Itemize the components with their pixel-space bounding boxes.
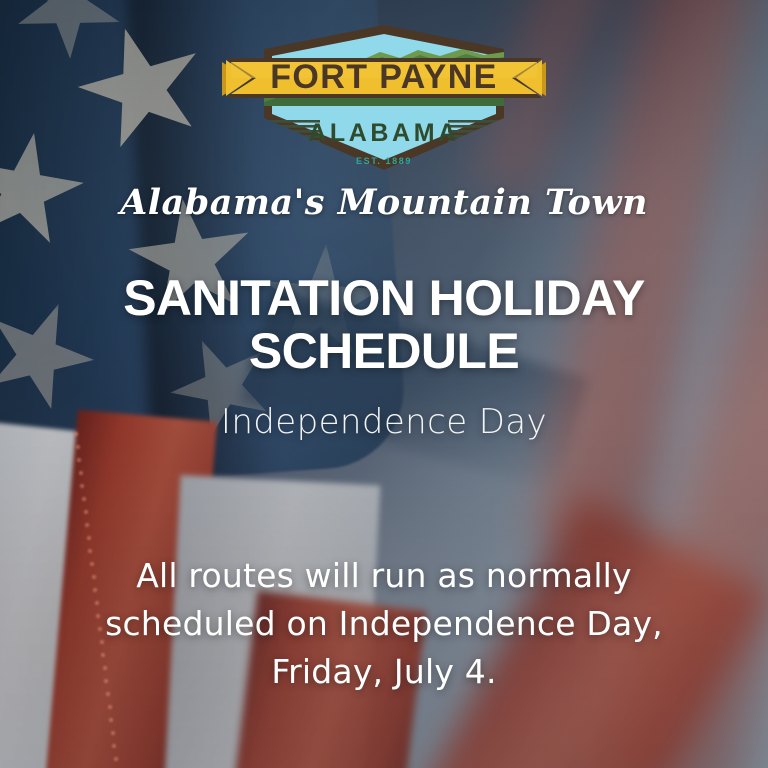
headline-line-2: SCHEDULE [0,325,768,378]
logo-state-text: ALABAMA [308,119,460,147]
tagline: Alabama's Mountain Town [0,182,768,223]
fort-payne-logo-icon: ALABAMA EST. 1889 FORT PAYNE [204,22,564,177]
logo-city-text: FORT PAYNE [270,58,497,96]
headline-line-1: SANITATION HOLIDAY [123,270,645,326]
body-line-3: Friday, July 4. [64,648,704,696]
logo-established-text: EST. 1889 [356,156,412,166]
poster-content: ALABAMA EST. 1889 FORT PAYNE Alabama's M… [0,0,768,768]
subtitle: Independence Day [0,402,768,442]
body-line-2: scheduled on Independence Day, [64,600,704,648]
body-line-1: All routes will run as normally [64,552,704,600]
sanitation-holiday-poster: ALABAMA EST. 1889 FORT PAYNE Alabama's M… [0,0,768,768]
body-message: All routes will run as normally schedule… [64,552,704,696]
page-title: SANITATION HOLIDAY SCHEDULE [0,272,768,378]
fort-payne-logo: ALABAMA EST. 1889 FORT PAYNE [204,22,564,177]
